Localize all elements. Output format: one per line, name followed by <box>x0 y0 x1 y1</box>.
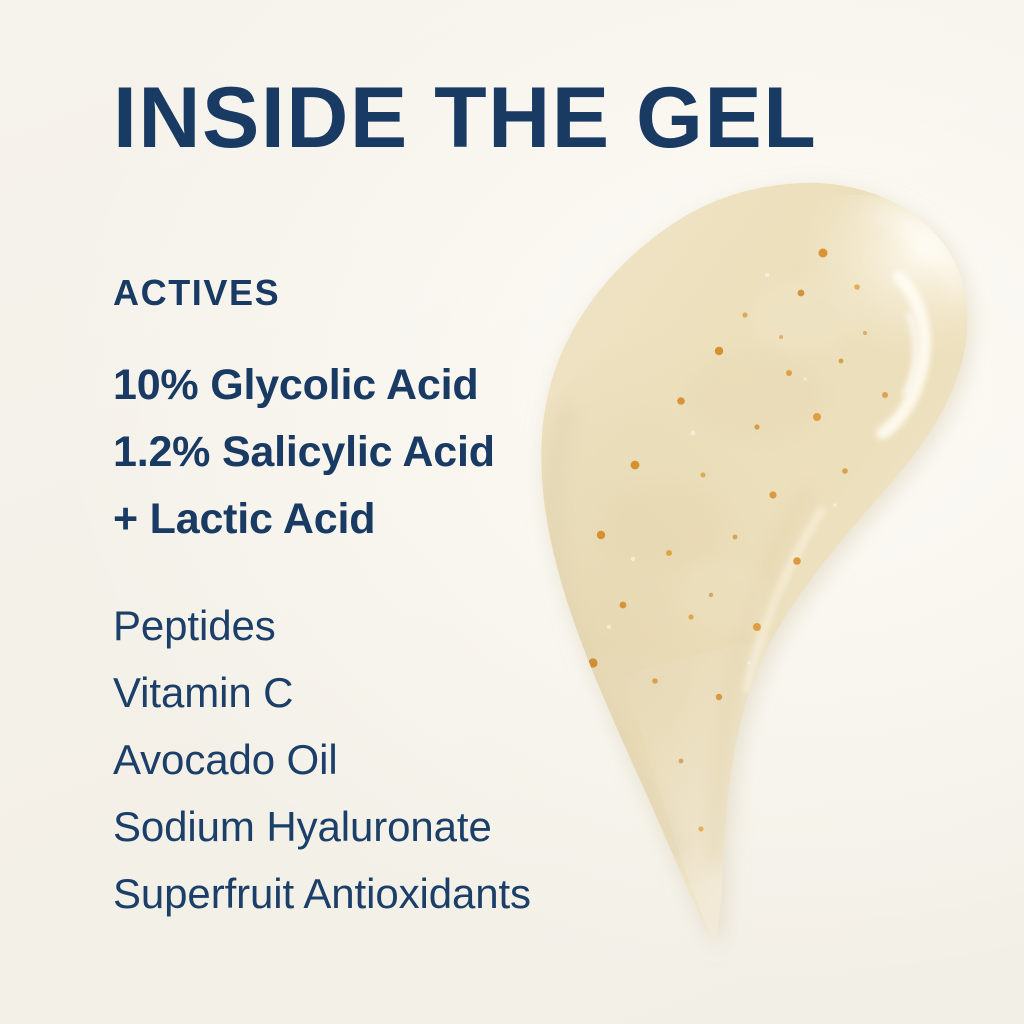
actives-section-heading: ACTIVES <box>113 272 280 314</box>
list-item: Superfruit Antioxidants <box>113 860 673 927</box>
list-item: Sodium Hyaluronate <box>113 793 673 860</box>
list-item: + Lactic Acid <box>113 486 583 553</box>
page-title: INSIDE THE GEL <box>113 72 953 164</box>
list-item: Vitamin C <box>113 659 673 726</box>
list-item: 1.2% Salicylic Acid <box>113 419 583 486</box>
supporting-ingredient-list: Peptides Vitamin C Avocado Oil Sodium Hy… <box>113 592 673 927</box>
list-item: Avocado Oil <box>113 726 673 793</box>
list-item: 10% Glycolic Acid <box>113 352 583 419</box>
product-ingredient-poster: INSIDE THE GEL ACTIVES 10% Glycolic Acid… <box>0 0 1024 1024</box>
actives-ingredient-list: 10% Glycolic Acid 1.2% Salicylic Acid + … <box>113 352 583 553</box>
list-item: Peptides <box>113 592 673 659</box>
